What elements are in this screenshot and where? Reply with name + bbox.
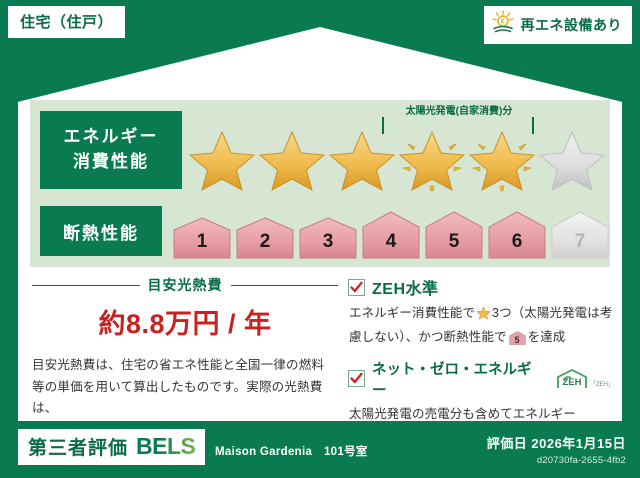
insulation-level-house: 5 xyxy=(424,210,484,260)
label-title-block: 建築物省エネ法に基づく 省エネ性能ラベル xyxy=(0,40,640,97)
insulation-level-number: 4 xyxy=(386,231,397,260)
star-filled-solar xyxy=(398,126,466,192)
energy-cost-heading-text: 目安光熱費 xyxy=(148,275,223,295)
insulation-level-number: 1 xyxy=(197,231,208,260)
energy-performance-label: エネルギー 消費性能 xyxy=(40,111,182,189)
insulation-level-number: 7 xyxy=(575,231,586,260)
insulation-level-house: 6 xyxy=(487,210,547,260)
energy-cost-note-line: 等の単価を用いて算出したものです。実際の光熱費は、 xyxy=(32,377,338,420)
insulation-level-number: 5 xyxy=(449,231,460,260)
bels-chip-logo: BELS xyxy=(136,433,195,460)
insulation-level-number: 3 xyxy=(323,231,334,260)
svg-text:ZEH: ZEH xyxy=(562,377,581,388)
footer-meta: 評価日 2026年1月15日 d20730fa-2655-4fb2 xyxy=(487,433,626,466)
star-filled xyxy=(328,126,396,192)
performance-block: エネルギー 消費性能 太陽光発電(自家消費)分 xyxy=(30,100,610,267)
criterion-header: ネット・ゼロ・エネルギー ZEH 「ZEH」 xyxy=(348,358,614,400)
solar-bracket-label: 太陽光発電(自家消費)分 xyxy=(364,102,554,117)
renewable-badge-label: 再エネ設備あり xyxy=(521,15,623,35)
property-name: Maison Gardenia 101号室 xyxy=(215,443,368,459)
energy-cost-value: 約8.8万円 / 年 xyxy=(32,302,338,341)
insulation-level-badge-icon: 5 xyxy=(509,331,526,352)
insulation-level-scale: 1 2 3 xyxy=(162,202,610,260)
energy-performance-row: エネルギー 消費性能 太陽光発電(自家消費)分 xyxy=(30,106,610,194)
insulation-level-house: 2 xyxy=(235,216,295,260)
evaluation-date: 評価日 2026年1月15日 xyxy=(487,433,626,452)
star-icon xyxy=(476,305,491,327)
zeh-house-logo-icon: ZEH 「ZEH」 xyxy=(555,368,614,390)
criterion-body-part: エネルギー消費性能で xyxy=(349,306,475,320)
star-empty xyxy=(538,126,606,192)
checkbox-checked-icon xyxy=(348,370,365,387)
criterion-header: ZEH水準 xyxy=(348,275,614,299)
star-rating xyxy=(188,126,606,192)
bels-evaluation-chip: 第三者評価 BELS xyxy=(18,429,205,465)
footer-bar: 第三者評価 BELS Maison Gardenia 101号室 評価日 202… xyxy=(0,421,640,478)
renewable-equipment-badge: 再エネ設備あり xyxy=(484,6,633,44)
house-type-chip: 住宅（住戸） xyxy=(8,6,125,38)
criterion-title: ネット・ゼロ・エネルギー xyxy=(372,358,545,400)
energy-cost-heading: 目安光熱費 xyxy=(32,275,338,295)
criterion-body-part: を達成 xyxy=(528,330,566,344)
insulation-level-badge-number: 5 xyxy=(509,333,526,348)
rule-left xyxy=(32,285,140,286)
certificate-id: d20730fa-2655-4fb2 xyxy=(487,455,626,466)
star-filled xyxy=(258,126,326,192)
star-filled xyxy=(188,126,256,192)
criterion-body-part: 3つ（太陽光発電 xyxy=(492,306,587,320)
insulation-level-house: 4 xyxy=(361,210,421,260)
zeh-logo-subtext: 「ZEH」 xyxy=(590,379,614,390)
title-main: 省エネ性能ラベル xyxy=(0,61,640,97)
insulation-level-number: 2 xyxy=(260,231,271,260)
insulation-level-house: 1 xyxy=(172,216,232,260)
energy-performance-label: 住宅（住戸） 再エネ設備あり 建築物省エネ法に基づく 省エネ性能ラベル xyxy=(0,0,640,478)
bels-chip-jp: 第三者評価 xyxy=(28,433,128,460)
insulation-level-number: 6 xyxy=(512,231,523,260)
criterion-body: エネルギー消費性能で3つ（太陽光発電は考慮しない）、かつ断熱性能で5を達成 xyxy=(349,303,614,352)
star-rating-area: 太陽光発電(自家消費)分 xyxy=(182,106,610,194)
energy-cost-note-line: 目安光熱費は、住宅の省エネ性能と全国一律の燃料 xyxy=(32,355,338,377)
insulation-level-house: 3 xyxy=(298,216,358,260)
criterion-zeh-standard: ZEH水準 エネルギー消費性能で3つ（太陽光発電は考慮しない）、かつ断熱性能で5… xyxy=(348,275,614,352)
rule-right xyxy=(231,285,339,286)
checkbox-checked-icon xyxy=(348,279,365,296)
insulation-level-house-inactive: 7 xyxy=(550,210,610,260)
criterion-title: ZEH水準 xyxy=(372,275,439,299)
insulation-performance-row: 断熱性能 1 xyxy=(30,202,610,260)
lower-columns: 目安光熱費 約8.8万円 / 年 目安光熱費は、住宅の省エネ性能と全国一律の燃料… xyxy=(18,275,622,415)
solar-sun-icon xyxy=(490,10,516,39)
insulation-performance-label: 断熱性能 xyxy=(40,206,162,256)
star-filled-solar xyxy=(468,126,536,192)
